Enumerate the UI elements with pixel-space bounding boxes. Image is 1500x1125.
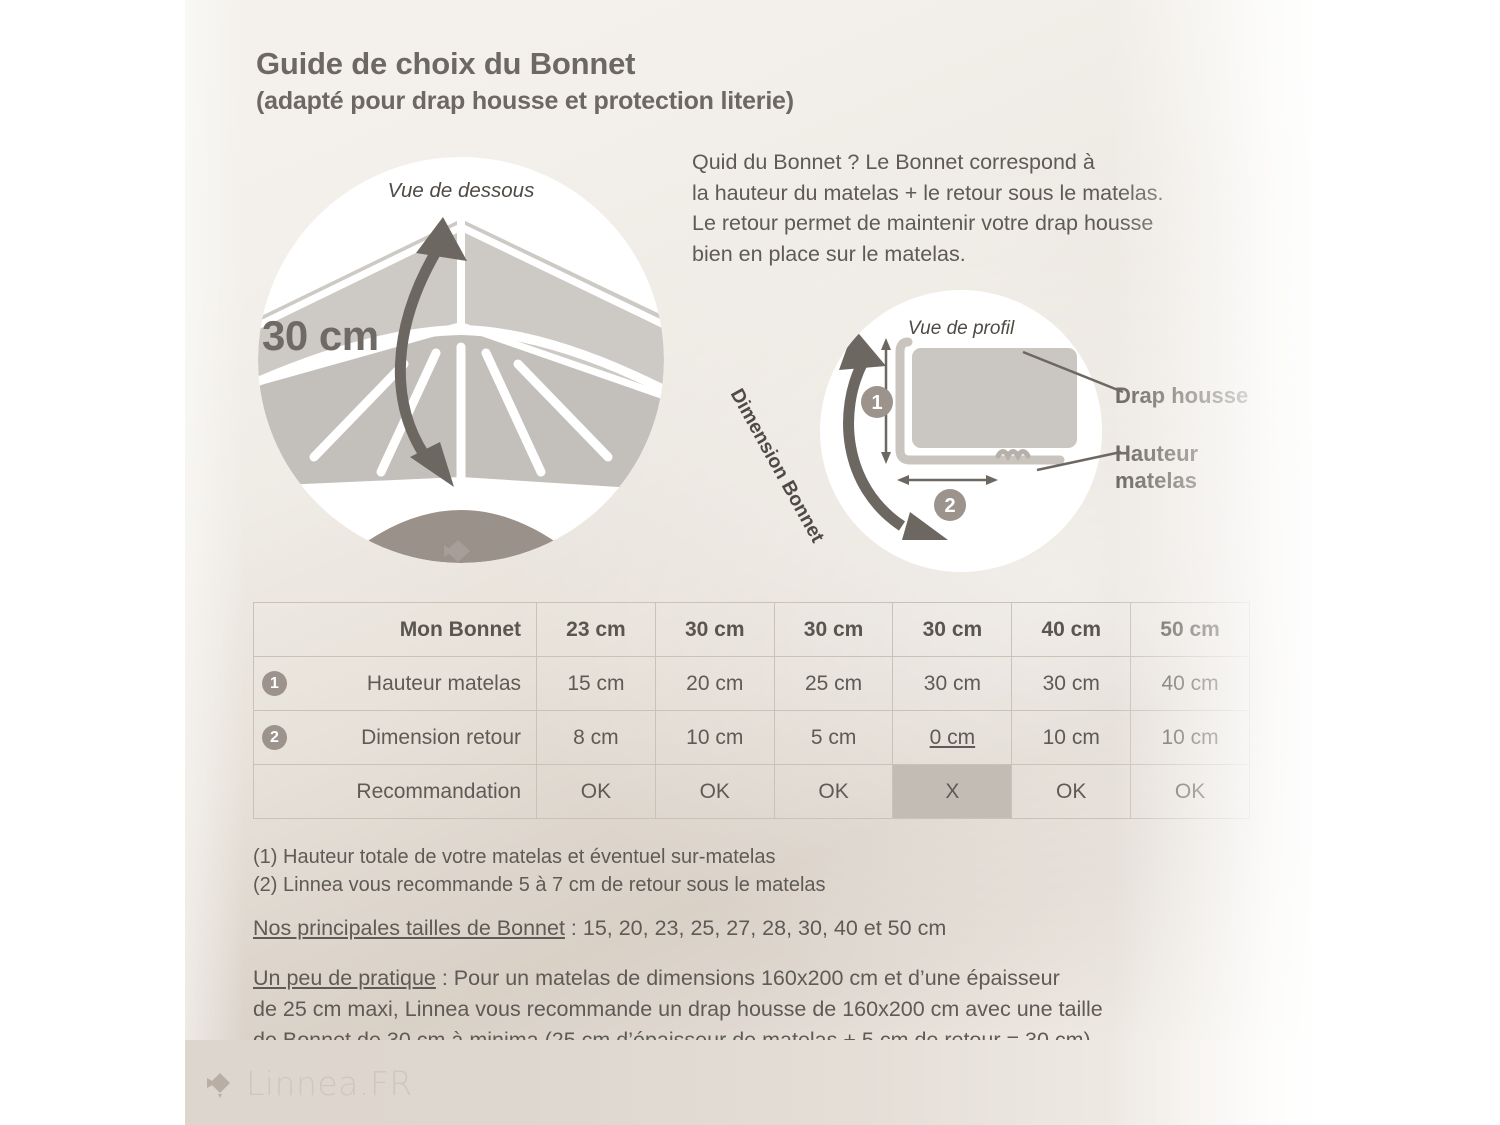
callout-hauteur-matelas: Hauteur matelas: [1115, 440, 1198, 494]
bonnet-size-table: Mon Bonnet 23 cm 30 cm 30 cm 30 cm 40 cm…: [253, 602, 1250, 819]
panel-left-fade: [185, 0, 245, 1125]
footnote-1: (1) Hauteur totale de votre matelas et é…: [253, 843, 826, 871]
cell-mon-bonnet-2: 30 cm: [774, 603, 893, 657]
cell-hauteur-3: 30 cm: [893, 657, 1012, 711]
practice-line-1: Un peu de pratique : Pour un matelas de …: [253, 963, 1103, 994]
table-row-mon-bonnet: Mon Bonnet 23 cm 30 cm 30 cm 30 cm 40 cm…: [254, 603, 1250, 657]
callout-drap-housse: Drap housse: [1115, 382, 1248, 409]
profile-badge-2: 2: [944, 495, 955, 517]
practice-line-1-rest: : Pour un matelas de dimensions 160x200 …: [436, 966, 1060, 990]
cell-reco-4: OK: [1012, 765, 1131, 819]
table-row-hauteur-matelas: 1 Hauteur matelas 15 cm 20 cm 25 cm 30 c…: [254, 657, 1250, 711]
intro-paragraph: Quid du Bonnet ? Le Bonnet correspond à …: [692, 147, 1292, 269]
intro-line-3: Le retour permet de maintenir votre drap…: [692, 208, 1292, 239]
cell-mon-bonnet-1: 30 cm: [655, 603, 774, 657]
footnotes: (1) Hauteur totale de votre matelas et é…: [253, 843, 826, 899]
cell-hauteur-0: 15 cm: [537, 657, 656, 711]
practice-line-2: de 25 cm maxi, Linnea vous recommande un…: [253, 994, 1103, 1025]
cell-retour-5: 10 cm: [1131, 711, 1250, 765]
cell-reco-0: OK: [537, 765, 656, 819]
linnea-diamond-icon: [205, 1069, 235, 1099]
cell-retour-2: 5 cm: [774, 711, 893, 765]
cell-hauteur-2: 25 cm: [774, 657, 893, 711]
cell-mon-bonnet-3: 30 cm: [893, 603, 1012, 657]
cell-mon-bonnet-4: 40 cm: [1012, 603, 1131, 657]
cell-retour-0: 8 cm: [537, 711, 656, 765]
row-label-recommandation: Recommandation: [254, 765, 537, 819]
page-title: Guide de choix du Bonnet: [256, 44, 794, 84]
callout-hauteur-line-1: Hauteur: [1115, 440, 1198, 467]
poster-page: Guide de choix du Bonnet (adapté pour dr…: [0, 0, 1500, 1125]
practice-label: Un peu de pratique: [253, 966, 436, 990]
cell-reco-3: X: [893, 765, 1012, 819]
cell-hauteur-5: 40 cm: [1131, 657, 1250, 711]
row-label-hauteur-matelas: 1 Hauteur matelas: [254, 657, 537, 711]
cell-reco-2: OK: [774, 765, 893, 819]
row-badge-2: 2: [262, 725, 287, 750]
cell-hauteur-1: 20 cm: [655, 657, 774, 711]
footnote-2: (2) Linnea vous recommande 5 à 7 cm de r…: [253, 871, 826, 899]
bonnet-height-double-arrow: [258, 157, 664, 563]
cell-reco-1: OK: [655, 765, 774, 819]
page-subtitle: (adapté pour drap housse et protection l…: [256, 84, 794, 118]
table-row-recommandation: Recommandation OK OK OK X OK OK: [254, 765, 1250, 819]
row-label-retour-text: Dimension retour: [361, 726, 521, 749]
cell-retour-1: 10 cm: [655, 711, 774, 765]
cell-hauteur-4: 30 cm: [1012, 657, 1131, 711]
brand-logo: Linnea.FR: [205, 1064, 413, 1103]
callout-hauteur-line-2: matelas: [1115, 467, 1198, 494]
row-badge-1: 1: [262, 671, 287, 696]
cell-retour-3: 0 cm: [893, 711, 1012, 765]
cell-reco-5: OK: [1131, 765, 1250, 819]
diagram-vue-de-dessous: Vue de dessous: [258, 157, 664, 563]
principal-sizes-label: Nos principales tailles de Bonnet: [253, 916, 565, 940]
principal-sizes-values: : 15, 20, 23, 25, 27, 28, 30, 40 et 50 c…: [565, 916, 946, 940]
row-label-hauteur-text: Hauteur matelas: [367, 672, 521, 695]
intro-line-2: la hauteur du matelas + le retour sous l…: [692, 178, 1292, 209]
cell-mon-bonnet-0: 23 cm: [537, 603, 656, 657]
dimension-bonnet-label: Dimension Bonnet: [725, 385, 829, 547]
content-panel: Guide de choix du Bonnet (adapté pour dr…: [185, 0, 1312, 1125]
bonnet-measure-label: 30 cm: [262, 312, 379, 360]
brand-wordmark: Linnea.FR: [246, 1064, 413, 1103]
cell-mon-bonnet-5: 50 cm: [1131, 603, 1250, 657]
row-label-dimension-retour: 2 Dimension retour: [254, 711, 537, 765]
row-label-mon-bonnet: Mon Bonnet: [254, 603, 537, 657]
intro-line-1: Quid du Bonnet ? Le Bonnet correspond à: [692, 147, 1292, 178]
intro-line-4: bien en place sur le matelas.: [692, 239, 1292, 270]
vue-de-dessous-caption: Vue de dessous: [258, 179, 664, 203]
cell-retour-4: 10 cm: [1012, 711, 1131, 765]
table-row-dimension-retour: 2 Dimension retour 8 cm 10 cm 5 cm 0 cm …: [254, 711, 1250, 765]
profile-badge-1: 1: [871, 392, 882, 414]
page-title-block: Guide de choix du Bonnet (adapté pour dr…: [256, 44, 794, 118]
principal-sizes-line: Nos principales tailles de Bonnet : 15, …: [253, 916, 946, 941]
